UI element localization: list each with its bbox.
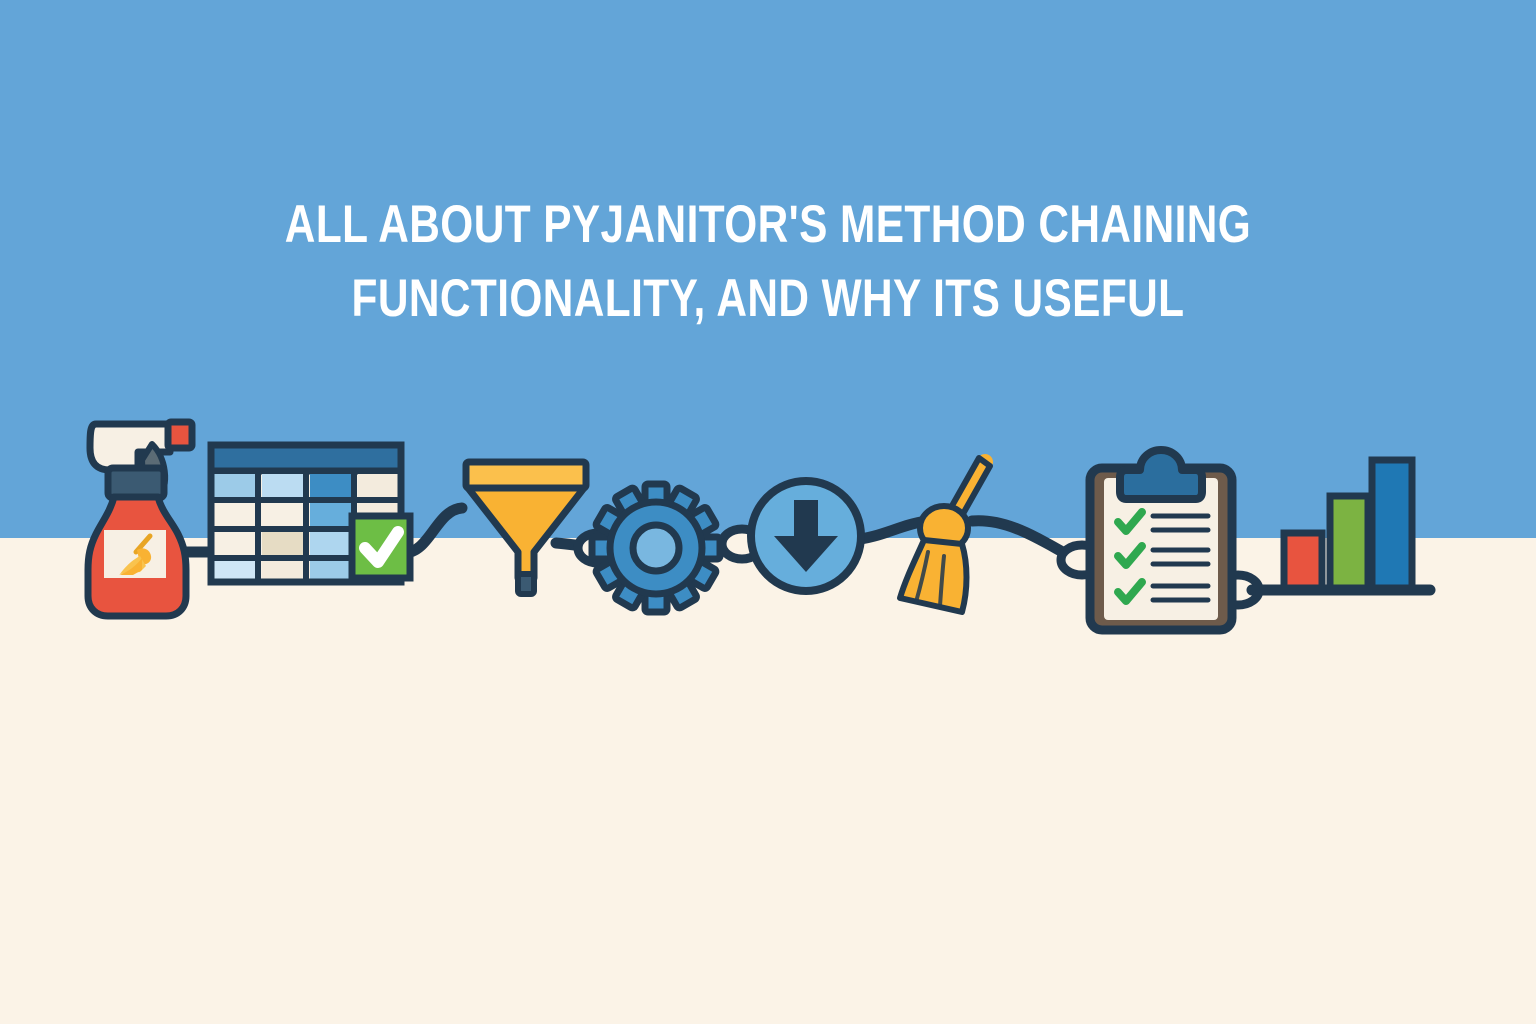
bar-1 <box>1284 533 1322 589</box>
bar-3 <box>1372 460 1412 589</box>
clipboard-clip <box>1120 450 1202 499</box>
gear-icon <box>592 484 720 612</box>
bar-2 <box>1330 496 1368 589</box>
funnel-icon <box>466 462 586 594</box>
validation-check-box <box>352 516 410 578</box>
download-circle-icon <box>751 481 861 591</box>
clipboard-icon <box>1090 450 1232 630</box>
pipeline-illustration <box>0 0 1536 1024</box>
bar-chart-icon <box>1252 460 1430 590</box>
broom-icon <box>900 458 990 612</box>
spray-bottle <box>88 422 192 616</box>
banner-illustration: ALL ABOUT PYJANITOR'S METHOD CHAINING FU… <box>0 0 1536 1024</box>
